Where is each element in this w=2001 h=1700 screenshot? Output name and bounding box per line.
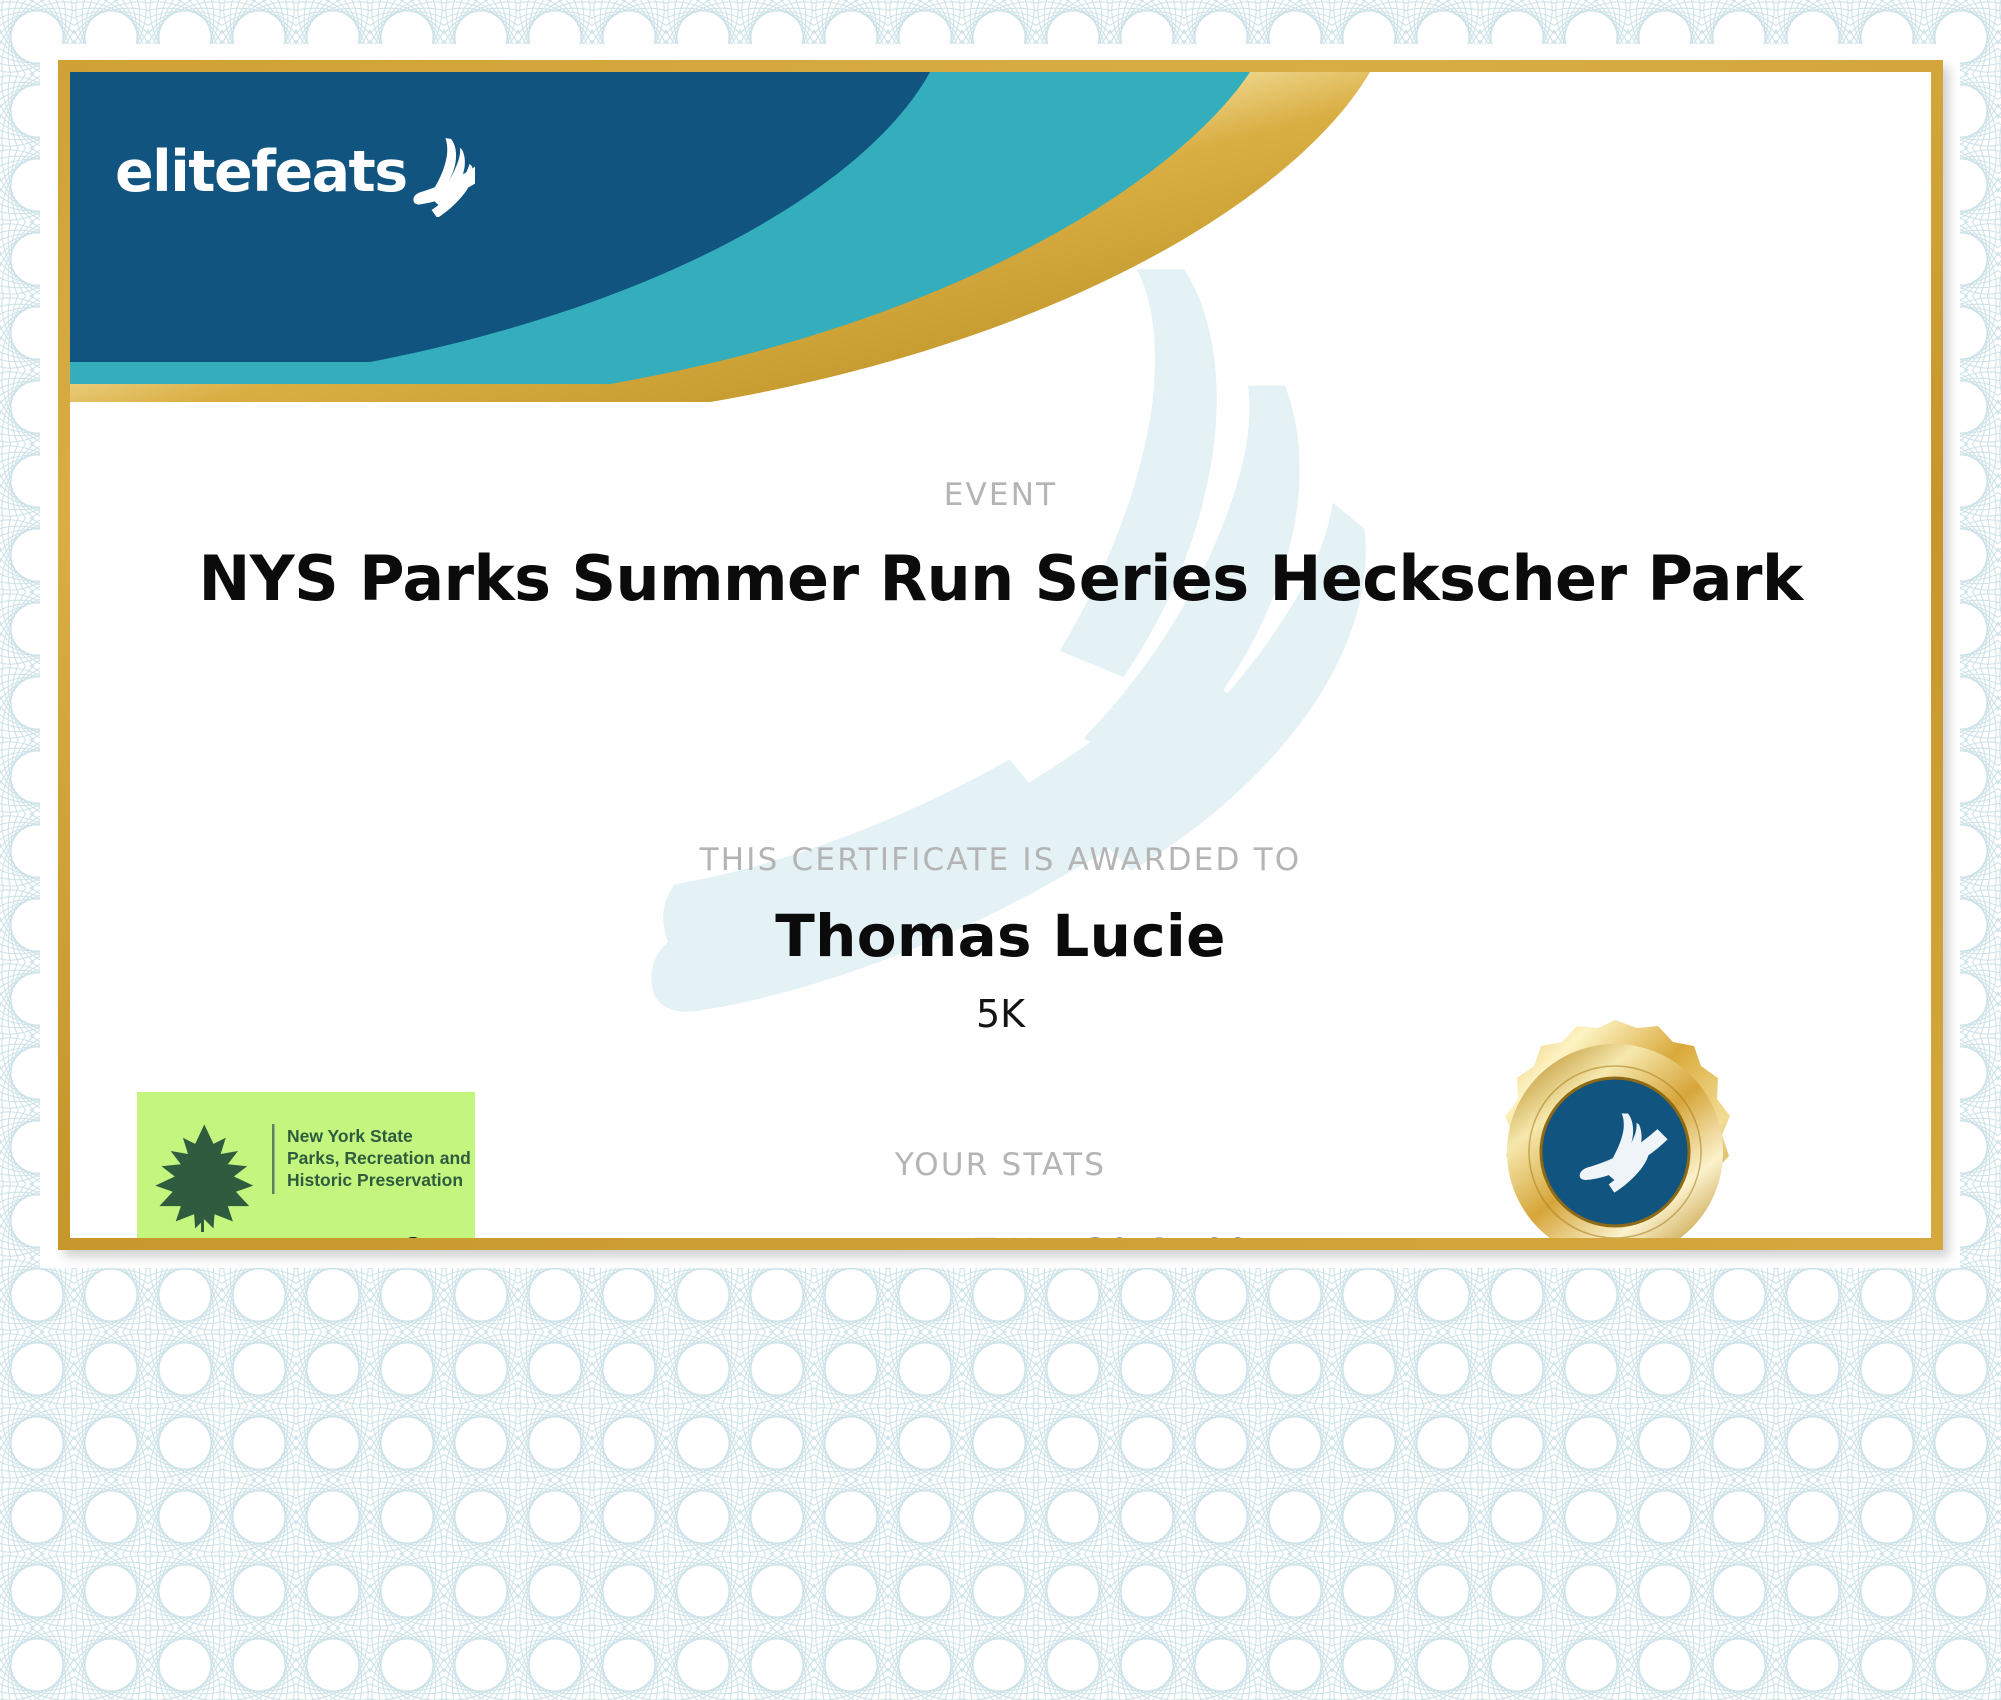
badge-medal [1505,1020,1730,1238]
certificate-body: elitefeats EVENT NYS Parks Summer Run Se… [70,72,1931,1238]
maple-leaf-icon [155,1124,253,1232]
certificate-frame: elitefeats EVENT NYS Parks Summer Run Se… [58,60,1943,1250]
brand-logo: elitefeats [115,127,475,217]
event-label: EVENT [70,477,1931,513]
stat-key: TIME: [975,1231,1073,1238]
winged-foot-icon [409,127,475,217]
header-swoosh-graphic [70,72,1370,402]
awarded-to-label: THIS CERTIFICATE IS AWARDED TO [70,842,1931,878]
certificate-page: elitefeats EVENT NYS Parks Summer Run Se… [0,0,2001,1700]
finisher-medal-badge: 2022 FINISHER CERTIFICATE [1450,992,1780,1238]
runners-silhouette-icon [346,1237,455,1238]
stat-value: 30:45.99 [1085,1231,1250,1238]
event-title: NYS Parks Summer Run Series Heckscher Pa… [70,542,1931,615]
recipient-name: Thomas Lucie [70,902,1931,970]
svg-text:Historic Preservation: Historic Preservation [287,1170,463,1190]
svg-text:Parks, Recreation and: Parks, Recreation and [287,1148,471,1168]
brand-wordmark: elitefeats [115,144,407,201]
sponsor-logo: New York State Parks, Recreation and His… [137,1092,475,1238]
svg-text:New York State: New York State [287,1126,413,1146]
